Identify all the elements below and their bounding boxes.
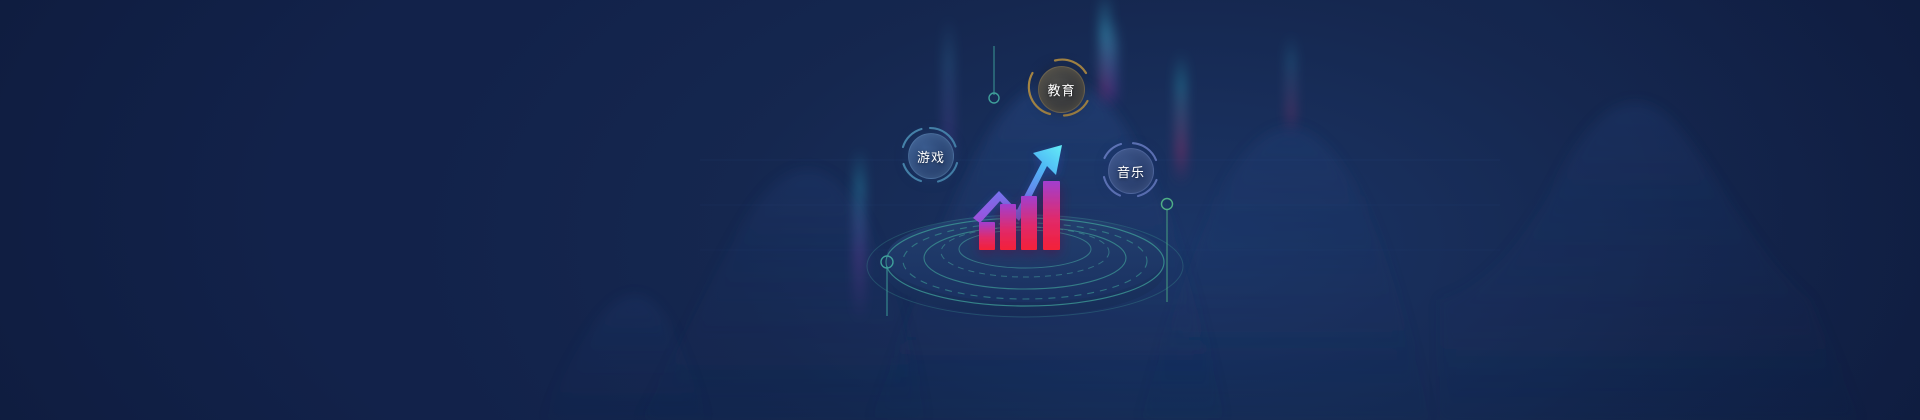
banner-stage: 游戏 教育 音乐 [0, 0, 1920, 420]
vignette-overlay [0, 0, 1920, 420]
